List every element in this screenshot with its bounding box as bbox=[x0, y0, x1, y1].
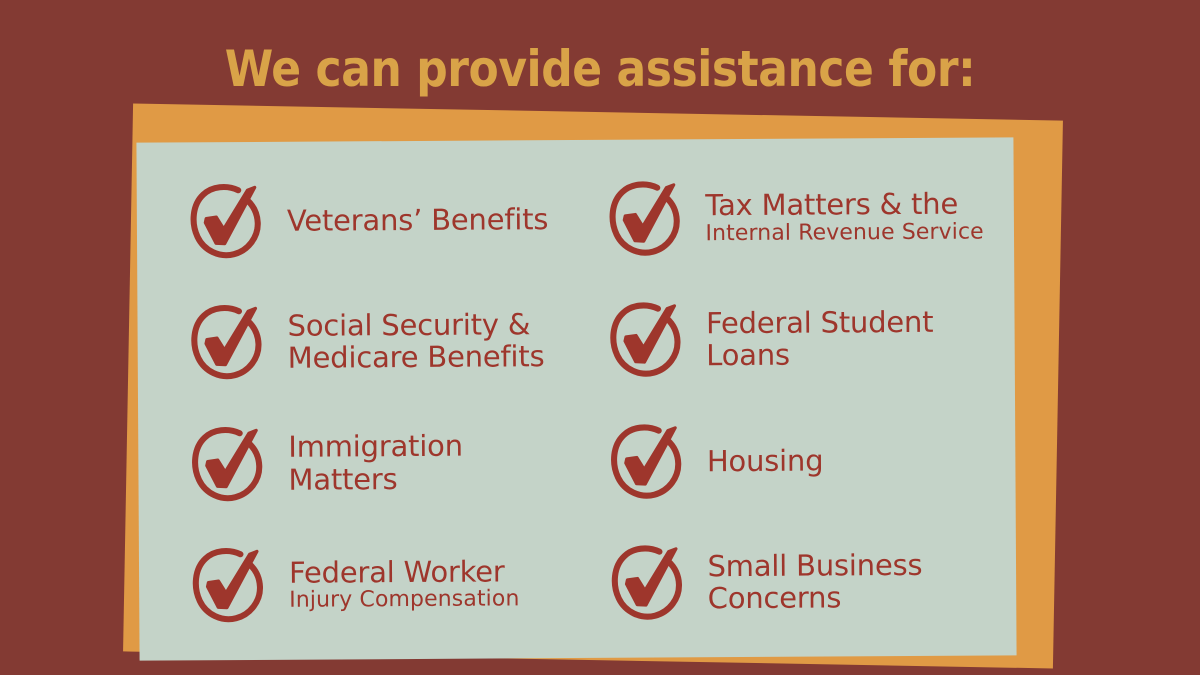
checklist-item-social-security-medicare[interactable]: Social Security & Medicare Benefits bbox=[181, 279, 586, 403]
checklist-item-line2: Medicare Benefits bbox=[288, 340, 545, 374]
checklist-item-line1: Tax Matters & the bbox=[705, 188, 983, 222]
checklist-item-text: Tax Matters & the Internal Revenue Servi… bbox=[705, 188, 984, 247]
checklist-item-veterans-benefits[interactable]: Veterans’ Benefits bbox=[181, 158, 586, 282]
checklist-item-text: Social Security & Medicare Benefits bbox=[287, 308, 544, 375]
checklist-item-line2: Internal Revenue Service bbox=[705, 220, 983, 246]
slide-canvas: We can provide assistance for: Veterans’… bbox=[0, 0, 1200, 675]
checklist-item-text: Housing bbox=[707, 444, 824, 477]
checklist-item-line1: Federal Student bbox=[706, 306, 934, 340]
checklist-item-text: Federal Worker Injury Compensation bbox=[289, 555, 520, 613]
check-circle-icon bbox=[182, 418, 275, 511]
checklist-item-line1: Small Business bbox=[707, 549, 922, 583]
checklist-item-text: Small Business Concerns bbox=[707, 549, 922, 615]
check-circle-icon bbox=[600, 294, 693, 387]
checklist-item-small-business-concerns[interactable]: Small Business Concerns bbox=[601, 520, 1006, 644]
checklist-item-text: Immigration Matters bbox=[288, 430, 463, 496]
assistance-card: Veterans’ Benefits Tax Matters & the Int… bbox=[136, 137, 1016, 660]
checklist-item-text: Federal Student Loans bbox=[706, 306, 934, 372]
checklist-item-line2: Injury Compensation bbox=[289, 588, 519, 614]
checklist-item-line2: Loans bbox=[706, 338, 934, 372]
checklist-item-line1: Housing bbox=[707, 444, 824, 477]
assistance-checklist: Veterans’ Benefits Tax Matters & the Int… bbox=[136, 137, 1016, 660]
checklist-item-line2: Concerns bbox=[708, 581, 923, 615]
checklist-item-housing[interactable]: Housing bbox=[601, 398, 1006, 522]
checklist-item-line2: Matters bbox=[288, 462, 463, 496]
check-circle-icon bbox=[181, 296, 274, 389]
checklist-item-federal-student-loans[interactable]: Federal Student Loans bbox=[600, 277, 1005, 401]
checklist-item-line1: Federal Worker bbox=[289, 555, 519, 589]
checklist-item-federal-worker-injury[interactable]: Federal Worker Injury Compensation bbox=[183, 522, 588, 646]
checklist-item-line1: Social Security & bbox=[287, 308, 544, 342]
check-circle-icon bbox=[601, 537, 694, 630]
check-circle-icon bbox=[181, 175, 274, 268]
page-title: We can provide assistance for: bbox=[72, 40, 1128, 98]
check-circle-icon bbox=[599, 172, 692, 265]
check-circle-icon bbox=[601, 415, 694, 508]
checklist-item-tax-matters-irs[interactable]: Tax Matters & the Internal Revenue Servi… bbox=[599, 155, 1004, 279]
checklist-item-line1: Immigration bbox=[288, 430, 463, 464]
check-circle-icon bbox=[183, 539, 276, 632]
checklist-item-line1: Veterans’ Benefits bbox=[287, 203, 549, 237]
checklist-item-text: Veterans’ Benefits bbox=[287, 203, 549, 237]
checklist-item-immigration-matters[interactable]: Immigration Matters bbox=[182, 401, 587, 525]
